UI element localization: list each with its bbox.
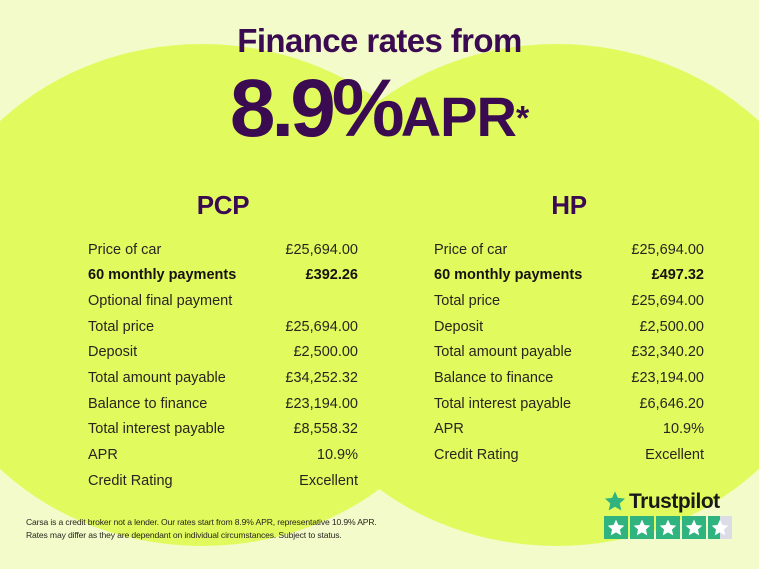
row-value: £23,194.00 bbox=[285, 396, 358, 413]
row-value: £6,646.20 bbox=[639, 396, 704, 413]
row-label: Credit Rating bbox=[88, 473, 173, 490]
row-label: Price of car bbox=[88, 242, 161, 259]
disclaimer-line-1: Carsa is a credit broker not a lender. O… bbox=[26, 516, 446, 529]
finance-table-hp: HP Price of car £25,694.00 60 monthly pa… bbox=[379, 190, 758, 494]
row-label: Total price bbox=[88, 319, 154, 336]
trustpilot-wordmark: Trustpilot bbox=[629, 491, 720, 512]
table-row: Total amount payable £34,252.32 bbox=[88, 365, 358, 391]
row-label: APR bbox=[434, 421, 464, 438]
row-label: Balance to finance bbox=[88, 396, 207, 413]
row-value: 10.9% bbox=[663, 421, 704, 438]
row-label: Deposit bbox=[88, 344, 137, 361]
row-label: Total interest payable bbox=[434, 396, 571, 413]
table-row: Credit Rating Excellent bbox=[88, 468, 358, 494]
finance-table-pcp: PCP Price of car £25,694.00 60 monthly p… bbox=[0, 190, 379, 494]
row-label: Total price bbox=[434, 293, 500, 310]
row-label: Optional final payment bbox=[88, 293, 232, 310]
table-row: Balance to finance £23,194.00 bbox=[88, 391, 358, 417]
row-value: £2,500.00 bbox=[293, 344, 358, 361]
page-title: Finance rates from bbox=[0, 22, 759, 60]
row-value: £23,194.00 bbox=[631, 370, 704, 387]
row-label: Total amount payable bbox=[434, 344, 572, 361]
row-value: 10.9% bbox=[317, 447, 358, 464]
row-value: £392.26 bbox=[306, 267, 358, 284]
table-row: Optional final payment bbox=[88, 288, 358, 314]
row-label: APR bbox=[88, 447, 118, 464]
legal-disclaimer: Carsa is a credit broker not a lender. O… bbox=[26, 516, 446, 543]
row-label: Balance to finance bbox=[434, 370, 553, 387]
rate-unit: APR bbox=[401, 85, 516, 148]
row-value: £8,558.32 bbox=[293, 421, 358, 438]
star-filled-icon bbox=[630, 516, 654, 539]
row-label: Total amount payable bbox=[88, 370, 226, 387]
trustpilot-stars bbox=[604, 516, 739, 539]
disclaimer-line-2: Rates may differ as they are dependant o… bbox=[26, 529, 446, 542]
promo-card: Finance rates from 8.9%APR* PCP Price of… bbox=[0, 0, 759, 569]
row-label: Deposit bbox=[434, 319, 483, 336]
row-label: Price of car bbox=[434, 242, 507, 259]
row-value: £34,252.32 bbox=[285, 370, 358, 387]
row-value: £2,500.00 bbox=[639, 319, 704, 336]
star-half-icon bbox=[708, 516, 732, 539]
rate-value: 8.9% bbox=[230, 63, 401, 154]
rate-asterisk: * bbox=[516, 100, 529, 138]
table-row: Total amount payable £32,340.20 bbox=[434, 340, 704, 366]
table-row: Total interest payable £6,646.20 bbox=[434, 391, 704, 417]
star-filled-icon bbox=[656, 516, 680, 539]
table-row: Credit Rating Excellent bbox=[434, 442, 704, 468]
row-label: 60 monthly payments bbox=[434, 267, 582, 284]
row-value: £497.32 bbox=[652, 267, 704, 284]
table-row: Balance to finance £23,194.00 bbox=[434, 365, 704, 391]
row-value: £25,694.00 bbox=[631, 242, 704, 259]
trustpilot-star-icon bbox=[604, 490, 626, 512]
table-row: Total price £25,694.00 bbox=[88, 314, 358, 340]
table-title-pcp: PCP bbox=[88, 190, 358, 221]
table-row: Deposit £2,500.00 bbox=[434, 314, 704, 340]
row-label: Total interest payable bbox=[88, 421, 225, 438]
row-value: £25,694.00 bbox=[631, 293, 704, 310]
star-filled-icon bbox=[604, 516, 628, 539]
star-filled-icon bbox=[682, 516, 706, 539]
table-row: Price of car £25,694.00 bbox=[88, 237, 358, 263]
row-label: 60 monthly payments bbox=[88, 267, 236, 284]
table-row: 60 monthly payments £497.32 bbox=[434, 263, 704, 289]
table-row: Deposit £2,500.00 bbox=[88, 340, 358, 366]
table-row: APR 10.9% bbox=[434, 417, 704, 443]
table-row: 60 monthly payments £392.26 bbox=[88, 263, 358, 289]
row-value: £25,694.00 bbox=[285, 319, 358, 336]
table-row: APR 10.9% bbox=[88, 442, 358, 468]
row-value: £25,694.00 bbox=[285, 242, 358, 259]
rate-headline: 8.9%APR* bbox=[0, 62, 759, 156]
trustpilot-logo: Trustpilot bbox=[604, 490, 739, 512]
row-value: Excellent bbox=[299, 473, 358, 490]
row-value: £32,340.20 bbox=[631, 344, 704, 361]
table-row: Total price £25,694.00 bbox=[434, 288, 704, 314]
finance-tables: PCP Price of car £25,694.00 60 monthly p… bbox=[0, 190, 759, 494]
trustpilot-rating: Trustpilot bbox=[604, 490, 739, 539]
row-value: Excellent bbox=[645, 447, 704, 464]
table-title-hp: HP bbox=[434, 190, 704, 221]
table-row: Price of car £25,694.00 bbox=[434, 237, 704, 263]
row-label: Credit Rating bbox=[434, 447, 519, 464]
table-row: Total interest payable £8,558.32 bbox=[88, 417, 358, 443]
